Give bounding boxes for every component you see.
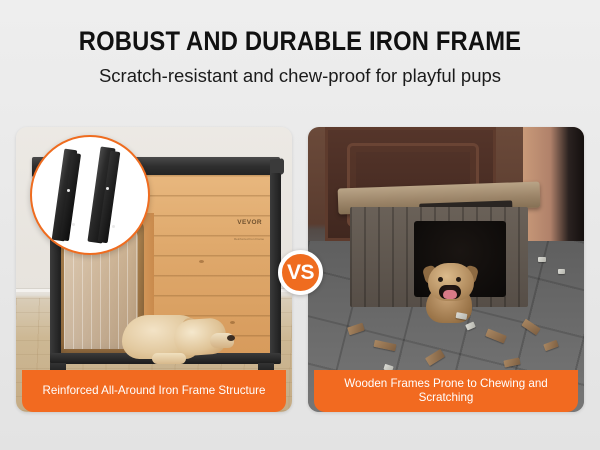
vevor-brand-tagline: Reinforced Iron Frame: [204, 237, 264, 241]
vs-badge: VS: [278, 250, 323, 295]
iron-frame-closeup-inset: [30, 135, 150, 255]
comparison-panel-left[interactable]: VEVOR Reinforced Iron Frame: [16, 127, 292, 412]
page-subtitle: Scratch-resistant and chew-proof for pla…: [0, 65, 600, 87]
caption-left: Reinforced All-Around Iron Frame Structu…: [22, 370, 286, 412]
comparison-panel-right[interactable]: Wooden Frames Prone to Chewing and Scrat…: [308, 127, 584, 412]
golden-retriever-dog: [122, 309, 232, 365]
caption-right: Wooden Frames Prone to Chewing and Scrat…: [314, 370, 578, 412]
vevor-brand-logo: VEVOR: [237, 219, 262, 226]
wooden-dog-house: [344, 185, 534, 315]
page-title: ROBUST AND DURABLE IRON FRAME: [36, 26, 564, 56]
header: ROBUST AND DURABLE IRON FRAME Scratch-re…: [0, 0, 600, 87]
barking-dog: [422, 263, 484, 323]
